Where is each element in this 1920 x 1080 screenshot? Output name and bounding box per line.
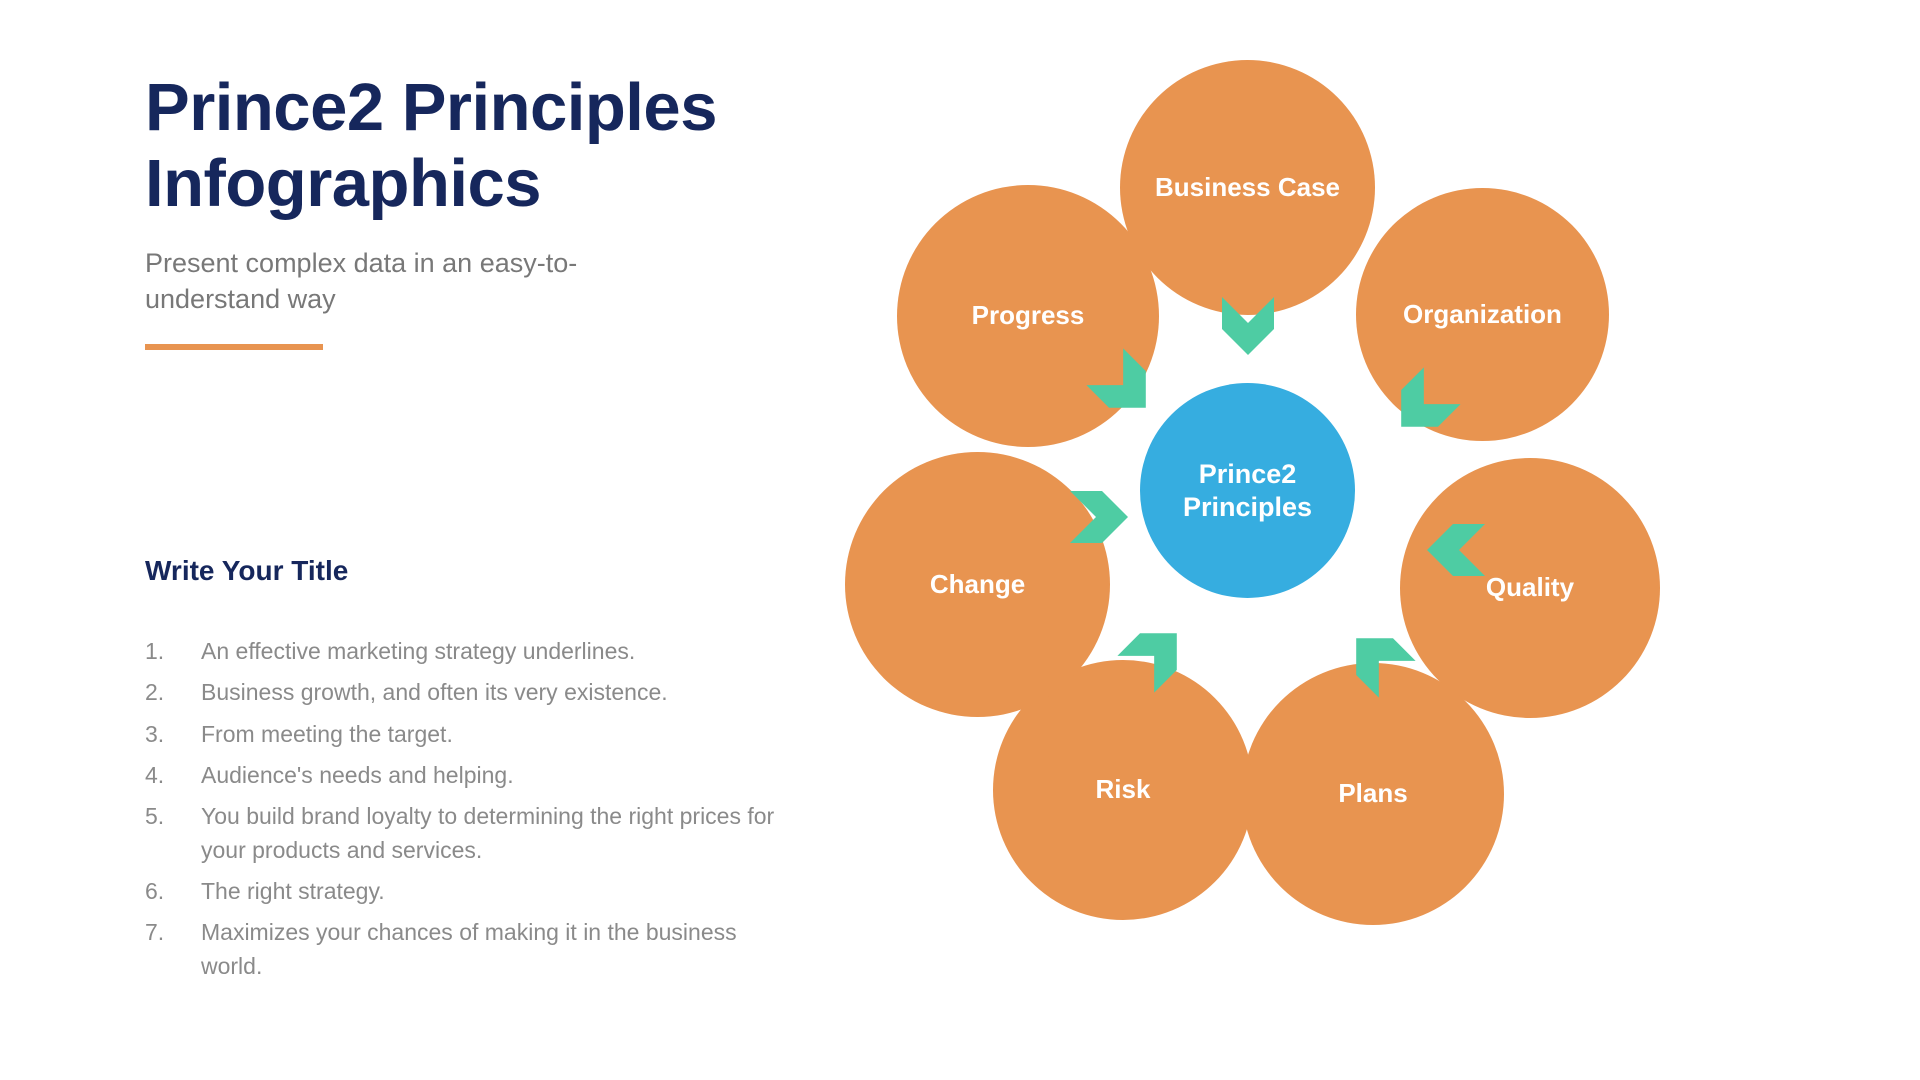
diagram-node-label: Quality [1486, 573, 1574, 603]
list-item: 3. From meeting the target. [145, 718, 785, 751]
diagram-node-label: Plans [1338, 779, 1407, 809]
list-item: 1. An effective marketing strategy under… [145, 635, 785, 668]
diagram-center-node[interactable]: Prince2 Principles [1140, 383, 1355, 598]
diagram-node-label: Business Case [1155, 173, 1340, 203]
slide-canvas: Prince2 Principles Infographics Present … [0, 0, 1920, 1080]
list-item-text: Maximizes your chances of making it in t… [201, 916, 785, 983]
header-block: Prince2 Principles Infographics Present … [145, 70, 835, 350]
prince2-circle-diagram: Business Case Organization Quality Plans… [860, 40, 1860, 1040]
list-item-text: You build brand loyalty to determining t… [201, 800, 785, 867]
numbered-list: 1. An effective marketing strategy under… [145, 635, 785, 991]
list-item: 5. You build brand loyalty to determinin… [145, 800, 785, 867]
list-item-text: The right strategy. [201, 875, 785, 908]
list-item-text: Audience's needs and helping. [201, 759, 785, 792]
list-item: 6. The right strategy. [145, 875, 785, 908]
list-item-number: 6. [145, 875, 201, 908]
list-item-number: 5. [145, 800, 201, 833]
diagram-node-organization[interactable]: Organization [1356, 188, 1609, 441]
list-item-text: An effective marketing strategy underlin… [201, 635, 785, 668]
diagram-node-business-case[interactable]: Business Case [1120, 60, 1375, 315]
section-title: Write Your Title [145, 555, 348, 587]
page-subtitle: Present complex data in an easy-to-under… [145, 245, 645, 318]
accent-divider [145, 344, 323, 350]
list-item-number: 4. [145, 759, 201, 792]
list-item: 2. Business growth, and often its very e… [145, 676, 785, 709]
diagram-node-progress[interactable]: Progress [897, 185, 1159, 447]
list-item: 4. Audience's needs and helping. [145, 759, 785, 792]
diagram-node-plans[interactable]: Plans [1242, 663, 1504, 925]
diagram-node-label: Organization [1403, 300, 1562, 330]
diagram-center-label: Prince2 Principles [1183, 458, 1312, 523]
diagram-node-change[interactable]: Change [845, 452, 1110, 717]
diagram-node-label: Risk [1096, 775, 1151, 805]
list-item-number: 3. [145, 718, 201, 751]
list-item-number: 2. [145, 676, 201, 709]
diagram-node-quality[interactable]: Quality [1400, 458, 1660, 718]
list-item-number: 7. [145, 916, 201, 949]
diagram-node-label: Progress [972, 301, 1085, 331]
list-item-text: From meeting the target. [201, 718, 785, 751]
list-item-text: Business growth, and often its very exis… [201, 676, 785, 709]
diagram-node-label: Change [930, 570, 1025, 600]
list-item-number: 1. [145, 635, 201, 668]
page-title: Prince2 Principles Infographics [145, 70, 835, 223]
list-item: 7. Maximizes your chances of making it i… [145, 916, 785, 983]
